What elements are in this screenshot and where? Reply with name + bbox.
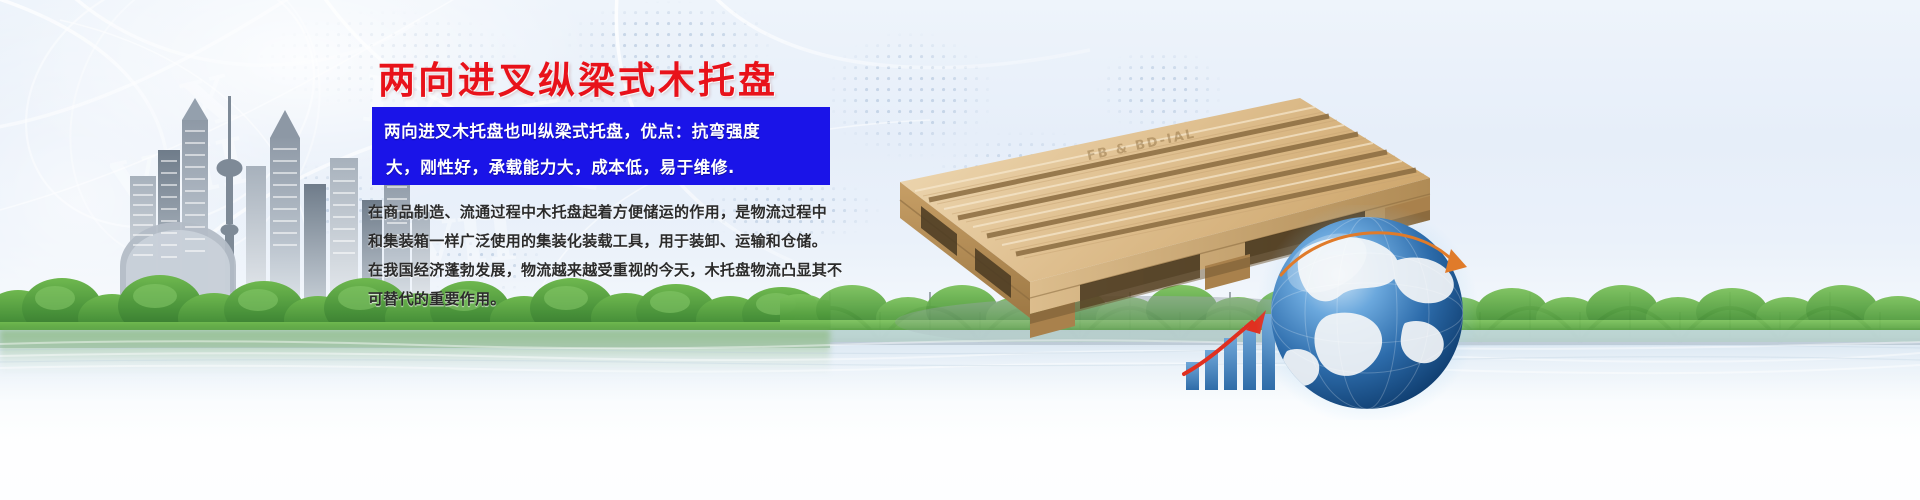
- body-line-2: 和集装箱一样广泛使用的集装化装载工具，用于装卸、运输和仓储。: [368, 227, 868, 256]
- body-line-3: 在我国经济蓬勃发展，物流越来越受重视的今天，木托盘物流凸显其不: [368, 256, 868, 285]
- body-paragraph: 在商品制造、流通过程中木托盘起着方便储运的作用，是物流过程中 和集装箱一样广泛使…: [368, 198, 868, 314]
- body-line-1: 在商品制造、流通过程中木托盘起着方便储运的作用，是物流过程中: [368, 198, 868, 227]
- earth-globe-graphic-icon: [1255, 205, 1490, 420]
- product-banner: VIII X IV VII II: [0, 0, 1920, 500]
- highlight-line-2: 大，刚性好，承载能力大，成本低，易于维修.: [384, 150, 820, 186]
- highlight-line-1: 两向进叉木托盘也叫纵梁式托盘，优点：抗弯强度: [384, 114, 820, 150]
- highlight-text-box: 两向进叉木托盘也叫纵梁式托盘，优点：抗弯强度 大，刚性好，承载能力大，成本低，易…: [372, 107, 830, 185]
- body-line-4: 可替代的重要作用。: [368, 285, 868, 314]
- page-title: 两向进叉纵梁式木托盘: [378, 50, 778, 104]
